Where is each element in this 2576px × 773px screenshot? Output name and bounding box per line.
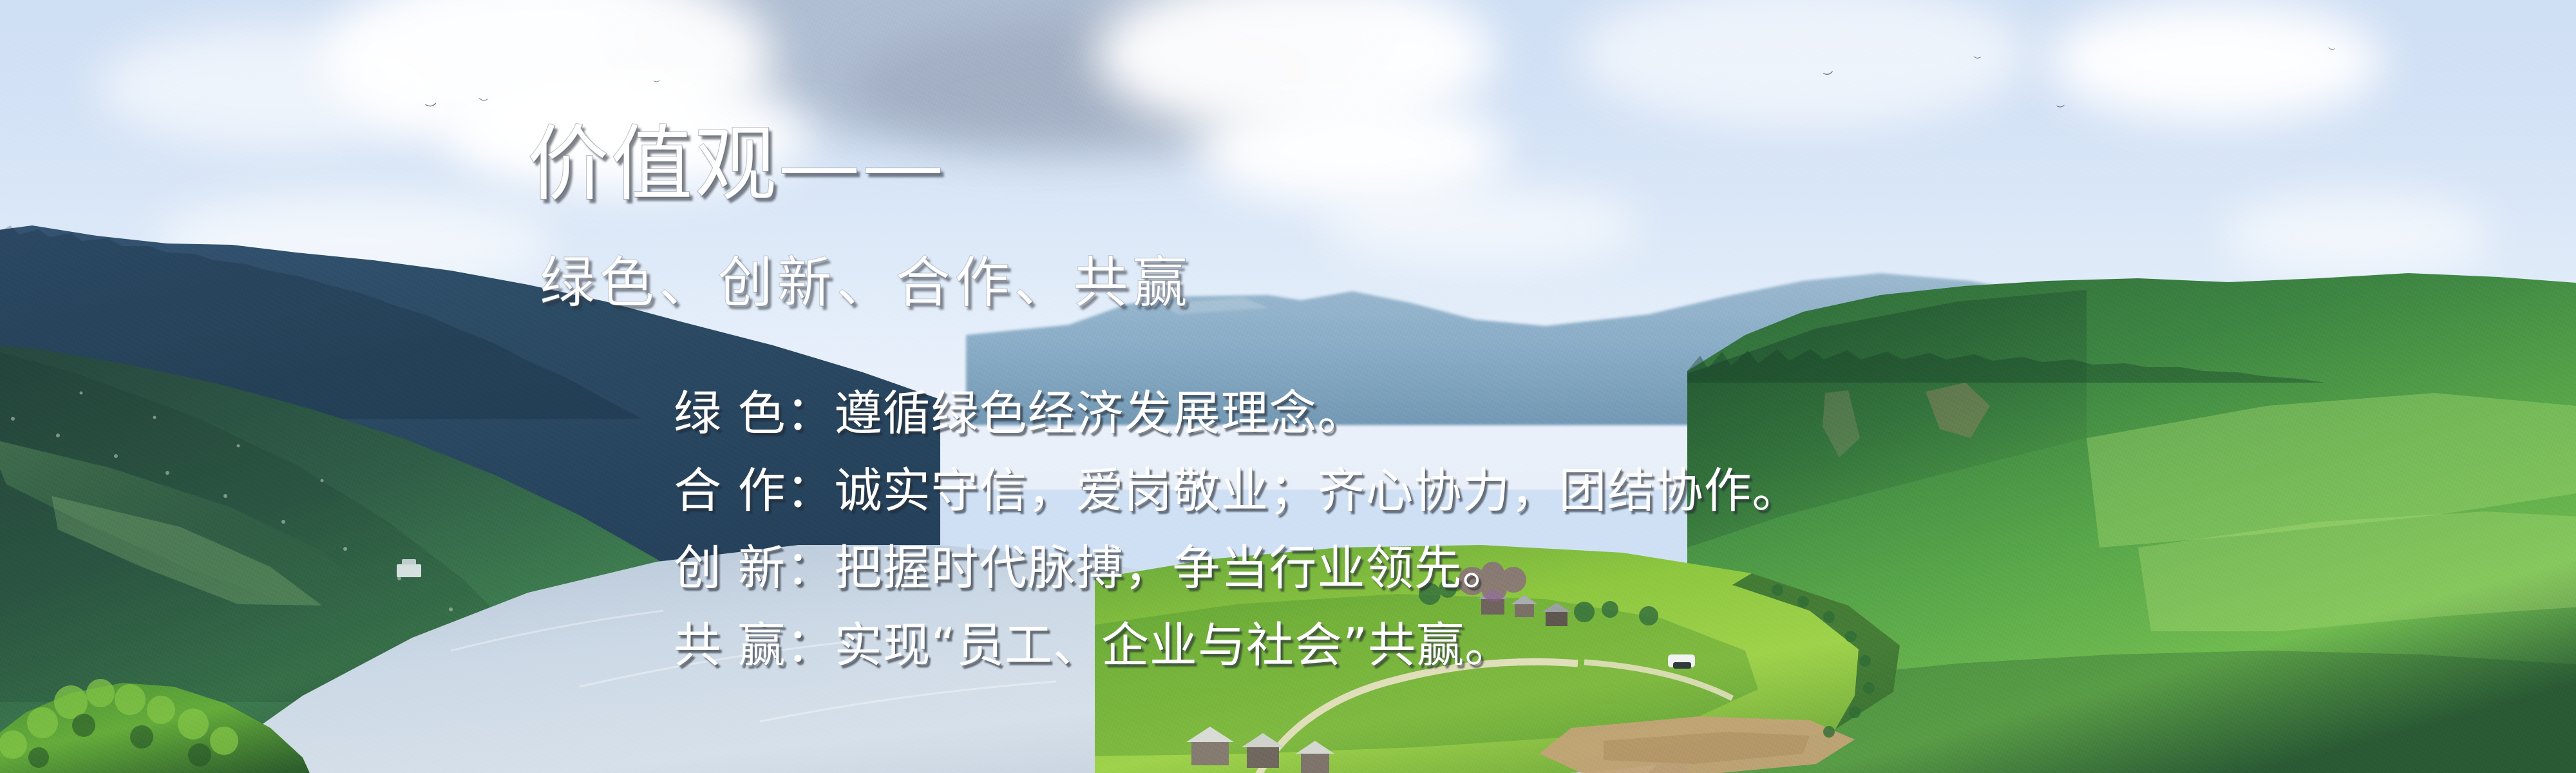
banner-canvas: ︶ ︶ ︶ ︶ ︶ ︶ ︶: [0, 0, 2576, 773]
values-list: 绿 色：遵循绿色经济发展理念。 合 作：诚实守信，爱岗敬业；齐心协力，团结协作。…: [674, 375, 2348, 684]
page-title: 价值观——: [527, 124, 945, 206]
value-item-winwin: 共 赢：实现“员工、企业与社会”共赢。: [674, 607, 2348, 684]
value-item-innovation: 创 新：把握时代脉搏，争当行业领先。: [674, 530, 2348, 607]
banner-text-layer: 价值观—— 绿色、创新、合作、共赢 绿 色：遵循绿色经济发展理念。 合 作：诚实…: [0, 0, 2576, 773]
values-subtitle: 绿色、创新、合作、共赢: [540, 255, 1191, 310]
value-item-green: 绿 色：遵循绿色经济发展理念。: [674, 375, 2348, 452]
value-item-cooperation: 合 作：诚实守信，爱岗敬业；齐心协力，团结协作。: [674, 452, 2348, 530]
